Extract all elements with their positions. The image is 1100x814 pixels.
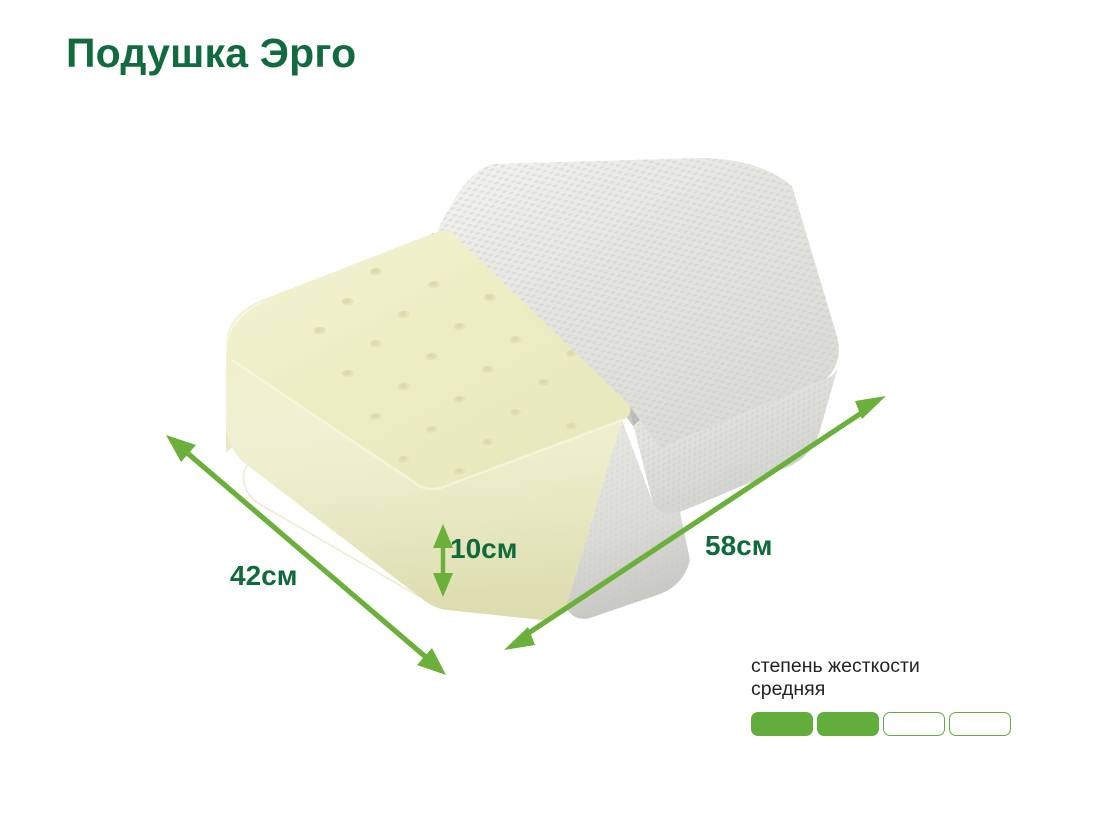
dimension-label-height: 10см [450, 533, 517, 565]
page-title: Подушка Эрго [66, 31, 356, 76]
firmness-pill-3 [883, 712, 945, 736]
dimension-arrow-length [504, 396, 886, 650]
firmness-caption-line-1: степень жесткости [751, 655, 1021, 678]
firmness-indicator: степень жесткости средняя [751, 655, 1021, 736]
firmness-pill-2 [817, 712, 879, 736]
dimension-arrow-width [166, 435, 446, 675]
dimension-label-length: 58см [705, 530, 772, 562]
foam-dimple-grid [314, 268, 578, 489]
firmness-caption-line-2: средняя [751, 678, 1021, 701]
firmness-caption: степень жесткости средняя [751, 655, 1021, 701]
firmness-pill-1 [751, 712, 813, 736]
product-card-page: Подушка Эрго [0, 0, 1100, 814]
firmness-scale [751, 712, 1021, 736]
dimension-label-width: 42см [230, 560, 297, 592]
firmness-pill-4 [949, 712, 1011, 736]
